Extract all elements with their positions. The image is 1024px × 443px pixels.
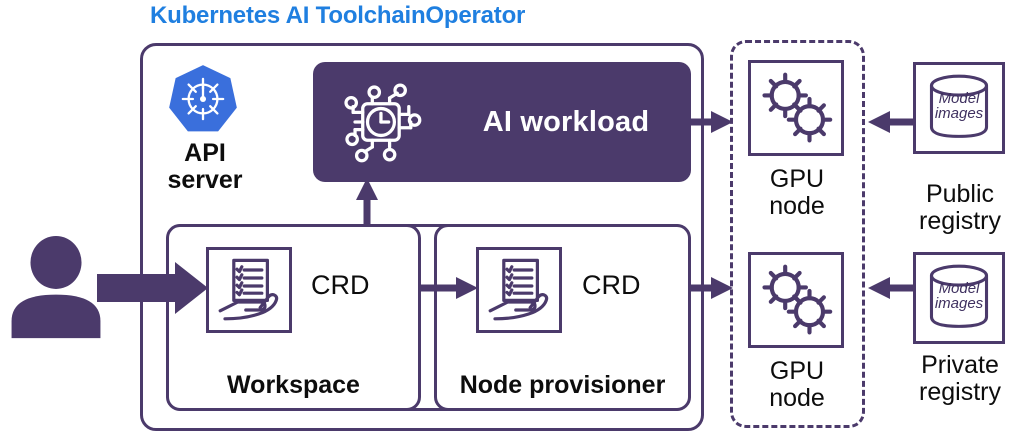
private-registry-label-line1: Private	[880, 352, 1024, 379]
gpu-node-label-line2: node	[729, 385, 865, 412]
public-registry-label-line1: Public	[880, 181, 1024, 208]
workspace-title: Workspace	[169, 371, 418, 400]
kubernetes-logo-icon	[167, 63, 239, 135]
hand-holding-checklist-icon	[206, 247, 292, 333]
private-registry-label: Private registry	[880, 352, 1024, 405]
node-provisioner-crd-label: CRD	[582, 270, 641, 301]
gpu-node-label-line2: node	[729, 193, 865, 220]
api-server-label: API server	[160, 140, 250, 193]
workspace-box[interactable]: Workspace	[166, 224, 421, 411]
node-provisioner-title: Node provisioner	[437, 371, 688, 400]
user-person-icon	[8, 236, 104, 340]
ai-workload-label: AI workload	[453, 62, 679, 182]
public-registry-label-line2: registry	[880, 208, 1024, 235]
api-server-label-line1: API	[160, 140, 250, 167]
node-provisioner-box[interactable]: Node provisioner	[434, 224, 691, 411]
diagram-canvas: Kubernetes AI ToolchainOperator	[0, 0, 1024, 443]
gpu-node-label-line1: GPU	[729, 358, 865, 385]
page-title: Kubernetes AI ToolchainOperator	[150, 2, 525, 30]
flow-private-registry-to-gpu-node-2	[868, 277, 913, 299]
api-server-label-line2: server	[160, 167, 250, 194]
gpu-node-label-line1: GPU	[729, 166, 865, 193]
gpu-node-label: GPU node	[729, 166, 865, 219]
workspace-crd-label: CRD	[311, 270, 370, 301]
private-registry-label-line2: registry	[880, 379, 1024, 406]
hand-holding-checklist-icon	[476, 247, 562, 333]
gpu-node-label: GPU node	[729, 358, 865, 411]
ai-chip-clock-icon	[331, 74, 429, 170]
gpu-gears-icon	[748, 60, 844, 156]
flow-public-registry-to-gpu-node-1	[868, 111, 913, 133]
database-cylinder-icon: Model images	[913, 252, 1005, 344]
gpu-gears-icon	[748, 252, 844, 348]
public-registry-label: Public registry	[880, 181, 1024, 234]
database-cylinder-icon: Model images	[913, 62, 1005, 154]
ai-workload-box[interactable]: AI workload	[313, 62, 691, 182]
